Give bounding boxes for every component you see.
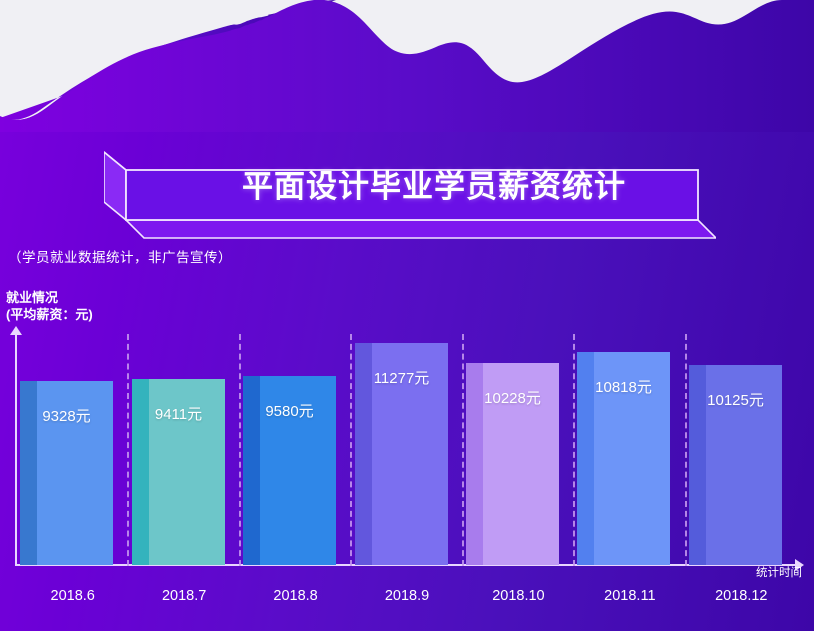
y-axis-caption-line2: (平均薪资：元) — [6, 306, 93, 323]
gridline — [127, 334, 129, 566]
x-axis-caption: 统计时间 — [756, 564, 802, 580]
chart-plot-area: 9328元9411元9580元11277元10228元10818元10125元 — [0, 330, 814, 575]
x-tick-2018.9: 2018.9 — [347, 588, 467, 604]
gridline — [573, 334, 575, 566]
x-tick-2018.7: 2018.7 — [124, 588, 244, 604]
bar-2018.11[interactable]: 10818元 — [577, 352, 670, 565]
bar-2018.10[interactable]: 10228元 — [466, 363, 559, 565]
x-tick-2018.10: 2018.10 — [458, 588, 578, 604]
infographic-canvas: 平面设计毕业学员薪资统计 （学员就业数据统计，非广告宣传） 就业情况 (平均薪资… — [0, 0, 814, 631]
gridline — [685, 334, 687, 566]
y-axis-caption: 就业情况 (平均薪资：元) — [6, 289, 93, 323]
x-tick-2018.8: 2018.8 — [236, 588, 356, 604]
bar-value-label: 11277元 — [355, 367, 448, 388]
x-tick-2018.11: 2018.11 — [570, 588, 690, 604]
y-axis-line — [15, 334, 17, 566]
bar-2018.8[interactable]: 9580元 — [243, 376, 336, 565]
bar-value-label: 9411元 — [132, 403, 225, 424]
title-banner: 平面设计毕业学员薪资统计 — [104, 148, 716, 232]
gridline — [239, 334, 241, 566]
x-tick-2018.12: 2018.12 — [681, 588, 801, 604]
x-axis-tick-labels: 2018.62018.72018.82018.92018.102018.1120… — [0, 588, 814, 616]
gridline — [350, 334, 352, 566]
bar-value-label: 9328元 — [20, 405, 113, 426]
bar-value-label: 9580元 — [243, 400, 336, 421]
gridline — [462, 334, 464, 566]
bar-2018.9[interactable]: 11277元 — [355, 343, 448, 565]
top-wave-decoration — [0, 0, 814, 132]
bar-2018.6[interactable]: 9328元 — [20, 381, 113, 565]
y-axis-arrow-icon — [10, 326, 22, 335]
bar-value-label: 10818元 — [577, 376, 670, 397]
banner-title-text: 平面设计毕业学员薪资统计 — [224, 164, 644, 210]
bar-value-label: 10125元 — [689, 389, 782, 410]
subtitle-note: （学员就业数据统计，非广告宣传） — [8, 246, 232, 266]
bar-2018.7[interactable]: 9411元 — [132, 379, 225, 565]
x-tick-2018.6: 2018.6 — [13, 588, 133, 604]
y-axis-caption-line1: 就业情况 — [6, 289, 93, 306]
bar-2018.12[interactable]: 10125元 — [689, 365, 782, 565]
bar-value-label: 10228元 — [466, 387, 559, 408]
